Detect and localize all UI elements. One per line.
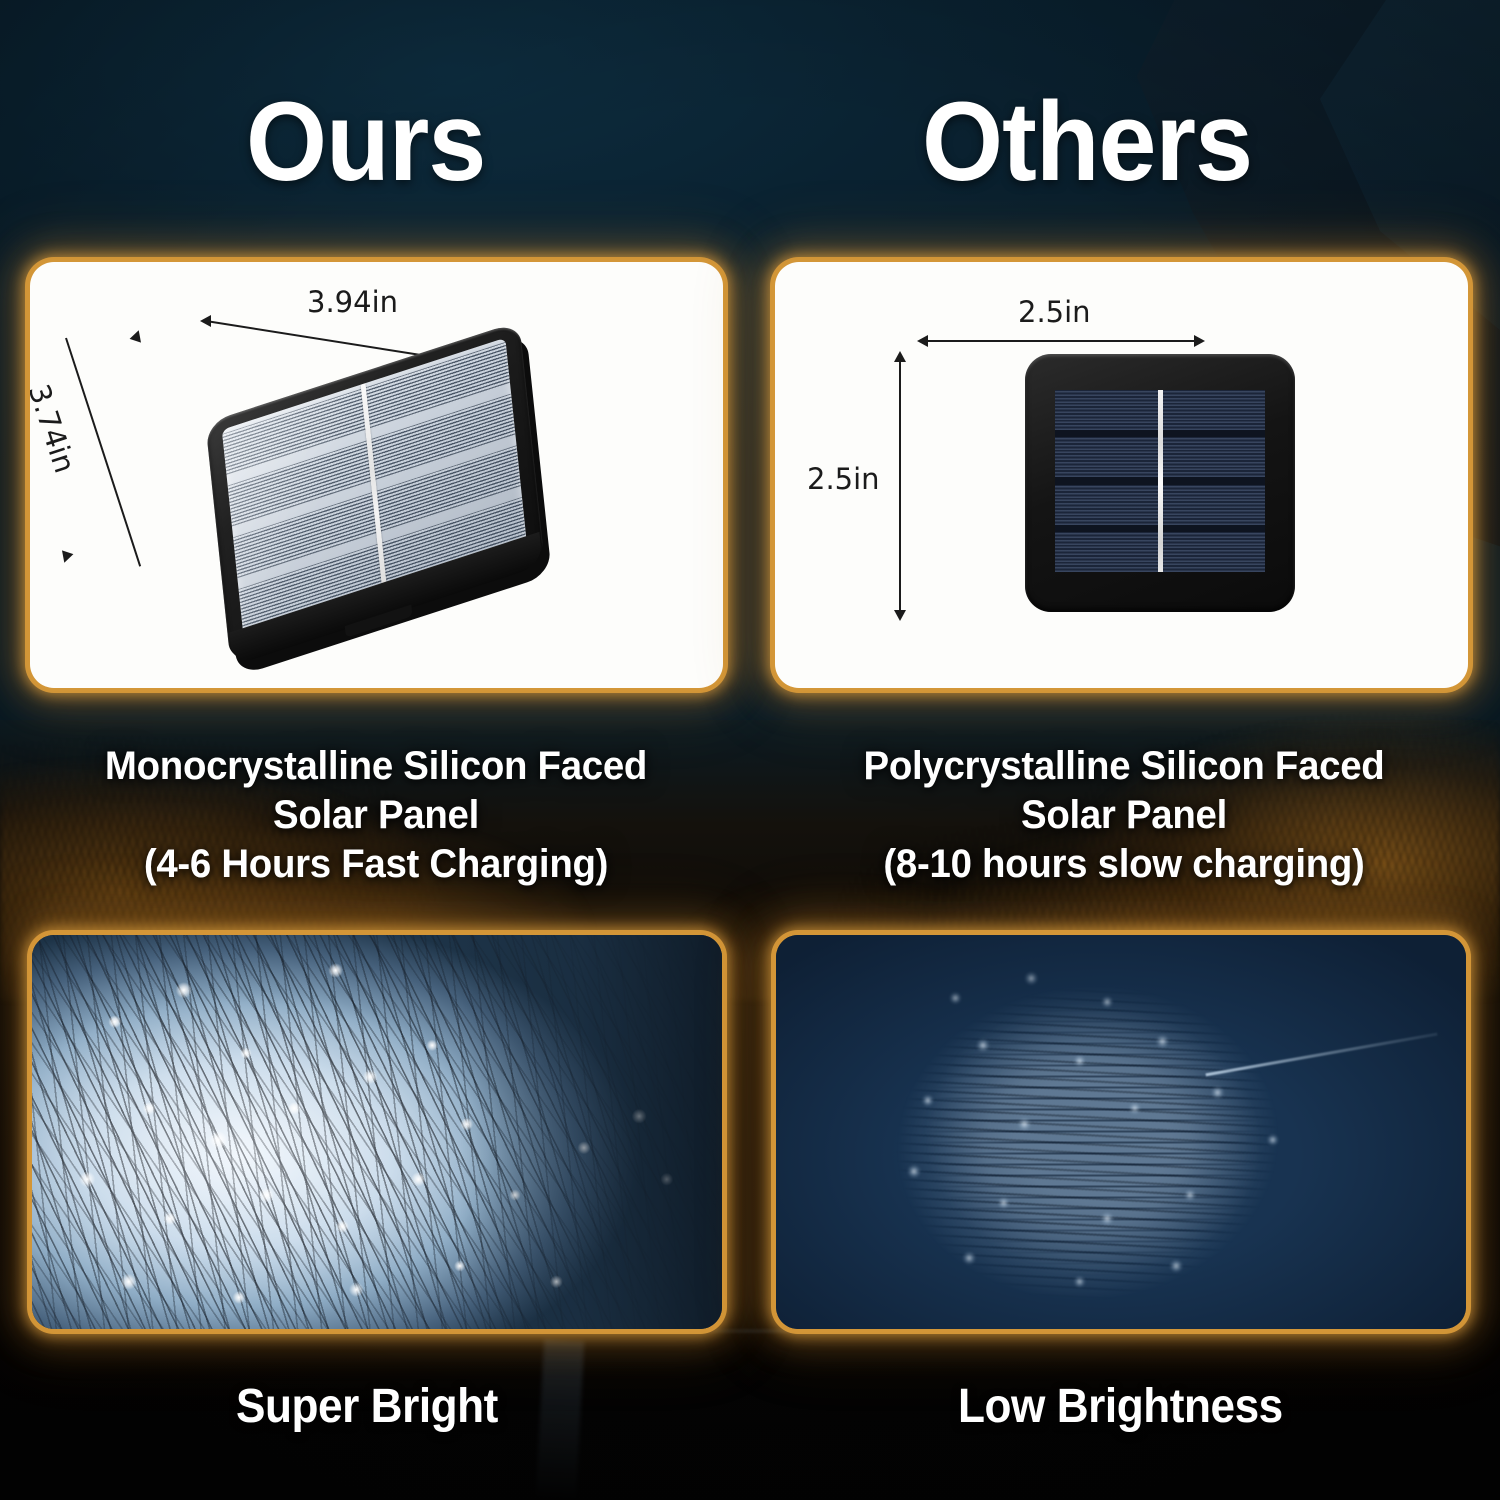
- others-led-photo: [776, 935, 1466, 1329]
- others-height-arrow-bottom: [894, 610, 906, 621]
- others-solar-panel-image: [1025, 354, 1295, 612]
- others-caption-line-3: (8-10 hours slow charging): [788, 840, 1460, 889]
- others-panel-glass: [1055, 390, 1265, 572]
- others-height-dimension-line: [899, 357, 901, 619]
- others-caption-line-1: Polycrystalline Silicon Faced: [788, 742, 1460, 791]
- others-panel-frame: [1025, 354, 1295, 612]
- ours-caption-line-2: Solar Panel: [40, 791, 712, 840]
- others-panel-busbar: [1158, 390, 1163, 572]
- others-height-label: 2.5in: [807, 462, 880, 496]
- others-photo-vignette: [776, 935, 1466, 1329]
- others-height-arrow-top: [894, 351, 906, 362]
- ours-photo-dark-edge: [460, 935, 722, 1329]
- ours-depth-arrow-bottom: [59, 550, 74, 564]
- others-caption-line-2: Solar Panel: [788, 791, 1460, 840]
- others-width-label: 2.5in: [1018, 295, 1091, 329]
- ours-depth-label: 3.74in: [30, 380, 82, 477]
- ours-brightness-label: Super Bright: [236, 1379, 498, 1434]
- others-brightness-label: Low Brightness: [958, 1379, 1283, 1434]
- ours-width-label: 3.94in: [307, 285, 398, 319]
- ours-panel-card: 3.94in 3.74in: [30, 262, 723, 688]
- others-width-dimension-line: [923, 340, 1199, 342]
- ours-caption-line-3: (4-6 Hours Fast Charging): [40, 840, 712, 889]
- ours-depth-arrow-top: [130, 328, 145, 342]
- others-caption: Polycrystalline Silicon Faced Solar Pane…: [788, 742, 1460, 890]
- heading-ours: Ours: [246, 86, 485, 198]
- others-panel-card: 2.5in 2.5in: [775, 262, 1468, 688]
- ours-solar-panel-image: [170, 318, 590, 638]
- others-width-arrow-left: [917, 335, 928, 347]
- ours-led-photo: [32, 935, 722, 1329]
- heading-others: Others: [922, 86, 1252, 198]
- others-width-arrow-right: [1194, 335, 1205, 347]
- ours-caption-line-1: Monocrystalline Silicon Faced: [40, 742, 712, 791]
- ours-caption: Monocrystalline Silicon Faced Solar Pane…: [40, 742, 712, 890]
